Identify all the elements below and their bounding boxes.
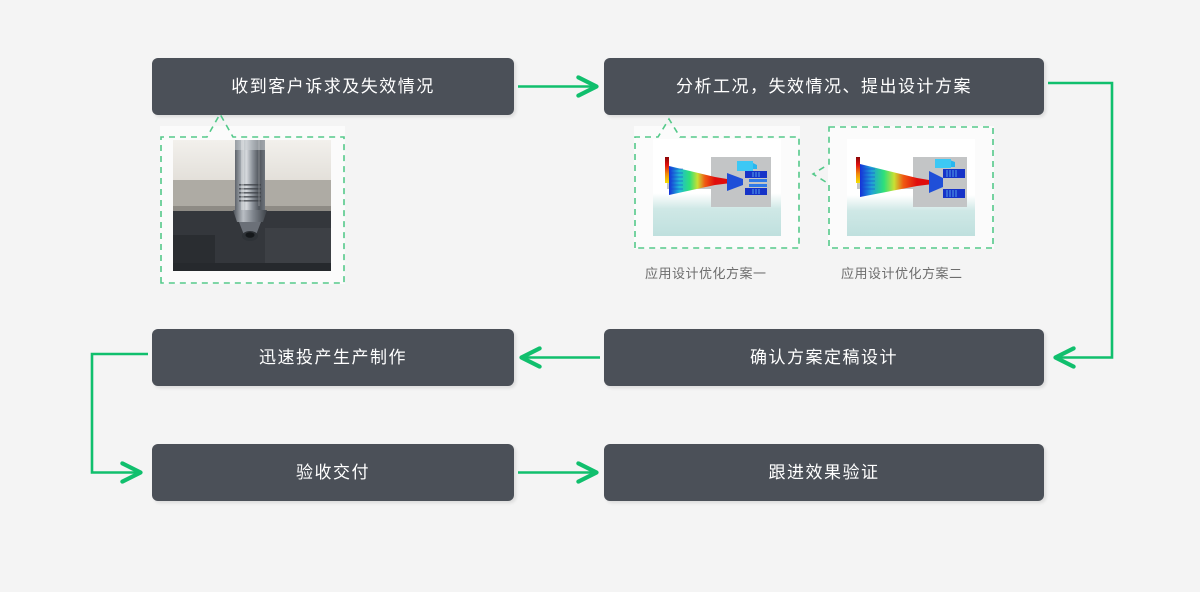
step-label-complaint: 收到客户诉求及失效情况	[231, 78, 435, 95]
step-box-analysis[interactable]: 分析工况，失效情况、提出设计方案	[604, 58, 1044, 115]
cfd-contour-image-1	[653, 139, 781, 236]
step-box-acceptance[interactable]: 验收交付	[152, 444, 514, 501]
callout-frame-simulation-1	[634, 126, 800, 249]
step-label-acceptance: 验收交付	[296, 464, 370, 481]
arrow-production-to-acceptance	[92, 354, 148, 473]
arrow-analysis-to-finalize	[1048, 83, 1112, 358]
callout-frame-failure-photo	[160, 126, 345, 284]
step-box-production[interactable]: 迅速投产生产制作	[152, 329, 514, 386]
step-label-finalize: 确认方案定稿设计	[750, 349, 898, 366]
failure-photo-image	[173, 140, 331, 271]
step-label-analysis: 分析工况，失效情况、提出设计方案	[676, 78, 972, 95]
cfd-contour-image-2	[847, 139, 975, 236]
caption-simulation-1: 应用设计优化方案一	[645, 263, 767, 282]
step-label-production: 迅速投产生产制作	[259, 349, 407, 366]
flowchart-canvas: 收到客户诉求及失效情况 分析工况，失效情况、提出设计方案 迅速投产生产制作 确认…	[0, 0, 1200, 592]
caption-simulation-2: 应用设计优化方案二	[841, 263, 963, 282]
step-box-followup[interactable]: 跟进效果验证	[604, 444, 1044, 501]
step-box-complaint[interactable]: 收到客户诉求及失效情况	[152, 58, 514, 115]
step-box-finalize[interactable]: 确认方案定稿设计	[604, 329, 1044, 386]
step-label-followup: 跟进效果验证	[769, 464, 880, 481]
callout-frame-simulation-2	[828, 126, 994, 249]
